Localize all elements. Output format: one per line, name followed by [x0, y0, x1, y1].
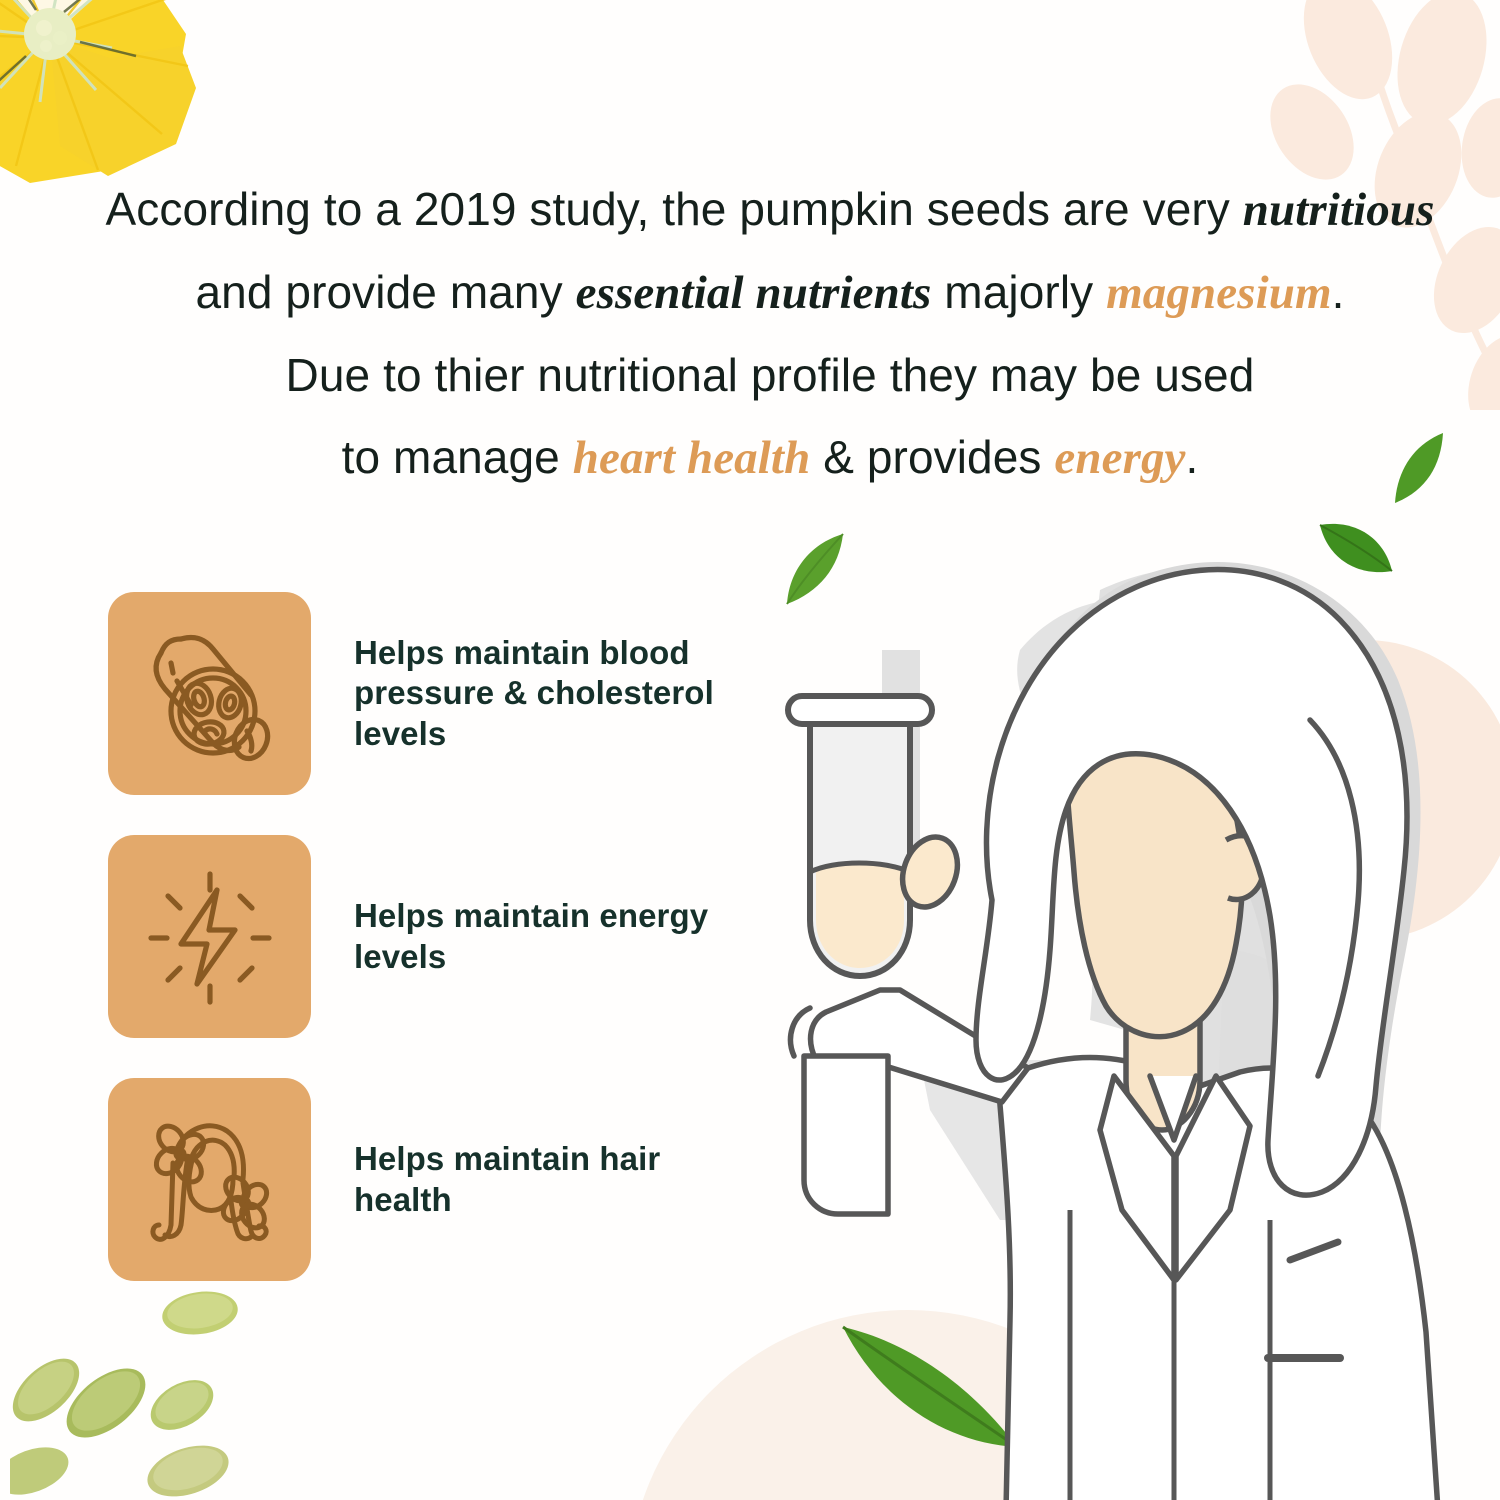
headline-line-2-text-a: and provide many [195, 266, 575, 318]
scientist-svg [770, 520, 1500, 1500]
headline-line-2-text-b: majorly [931, 266, 1106, 318]
headline-line-4-text-b: & provides [810, 431, 1054, 483]
infographic-canvas: According to a 2019 study, the pumpkin s… [0, 0, 1500, 1500]
headline-line-2: and provide many essential nutrients maj… [60, 251, 1480, 334]
benefit-label: Helps maintain energy levels [354, 896, 754, 977]
test-tube [788, 696, 932, 976]
female-scientist-illustration [770, 520, 1500, 1500]
benefit-icon-tile [108, 1078, 311, 1281]
benefit-icon-tile [108, 592, 311, 795]
list-item: Helps maintain blood pressure & choleste… [108, 592, 768, 795]
benefit-label: Helps maintain hair health [354, 1139, 754, 1220]
headline-line-3: Due to thier nutritional profile they ma… [60, 334, 1480, 416]
headline-line-1-text: According to a 2019 study, the pumpkin s… [105, 183, 1242, 235]
list-item: Helps maintain hair health [108, 1078, 768, 1281]
benefits-list: Helps maintain blood pressure & choleste… [108, 592, 768, 1321]
headline-emphasis-essential-nutrients: essential nutrients [576, 267, 932, 319]
list-item: Helps maintain energy levels [108, 835, 768, 1038]
benefit-label: Helps maintain blood pressure & choleste… [354, 633, 754, 754]
headline-line-2-text-c: . [1332, 266, 1345, 318]
blood-vessel-cells-icon [135, 619, 285, 769]
woman-hair-flowers-icon [135, 1105, 285, 1255]
hand [804, 1056, 888, 1214]
benefit-icon-tile [108, 835, 311, 1038]
headline-accent-magnesium: magnesium [1106, 267, 1332, 319]
sleeve-cuff [791, 1008, 810, 1056]
headline-paragraph: According to a 2019 study, the pumpkin s… [60, 168, 1480, 499]
lightning-bolt-energy-icon [135, 862, 285, 1012]
headline-accent-heart-health: heart health [573, 432, 811, 484]
headline-line-1: According to a 2019 study, the pumpkin s… [60, 168, 1480, 251]
headline-emphasis-nutritious: nutritious [1243, 184, 1435, 236]
headline-line-4-text-a: to manage [342, 431, 573, 483]
headline-line-4: to manage heart health & provides energy… [60, 416, 1480, 499]
headline-accent-energy: energy [1054, 432, 1185, 484]
headline-line-4-text-c: . [1186, 431, 1199, 483]
